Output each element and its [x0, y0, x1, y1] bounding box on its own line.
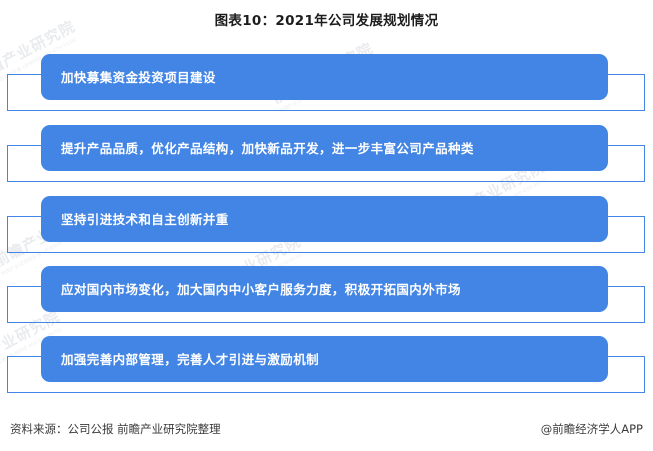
- plan-item-label: 加快募集资金投资项目建设: [41, 70, 228, 85]
- plan-item-3[interactable]: 坚持引进技术和自主创新并重: [41, 196, 608, 242]
- app-credit: @前瞻经济学人APP: [541, 421, 643, 437]
- plan-list: 加快募集资金投资项目建设 提升产品品质，优化产品结构，加快新品开发，进一步丰富公…: [0, 0, 653, 410]
- page-title: 图表10：2021年公司发展规划情况: [0, 9, 653, 29]
- plan-row: 提升产品品质，优化产品结构，加快新品开发，进一步丰富公司产品种类: [0, 125, 653, 191]
- footer: 资料来源：公司公报 前瞻产业研究院整理 @前瞻经济学人APP: [0, 421, 653, 439]
- plan-item-label: 提升产品品质，优化产品结构，加快新品开发，进一步丰富公司产品种类: [41, 141, 486, 156]
- plan-item-1[interactable]: 加快募集资金投资项目建设: [41, 54, 608, 100]
- plan-row: 应对国内市场变化，加大国内中小客户服务力度，积极开拓国内外市场: [0, 266, 653, 332]
- plan-item-5[interactable]: 加强完善内部管理，完善人才引进与激励机制: [41, 336, 608, 382]
- plan-item-2[interactable]: 提升产品品质，优化产品结构，加快新品开发，进一步丰富公司产品种类: [41, 125, 608, 171]
- source-text: 资料来源：公司公报 前瞻产业研究院整理: [10, 421, 221, 437]
- plan-item-label: 坚持引进技术和自主创新并重: [41, 212, 241, 227]
- plan-item-label: 应对国内市场变化，加大国内中小客户服务力度，积极开拓国内外市场: [41, 282, 473, 297]
- plan-item-label: 加强完善内部管理，完善人才引进与激励机制: [41, 352, 331, 367]
- plan-row: 加强完善内部管理，完善人才引进与激励机制: [0, 336, 653, 402]
- plan-row: 坚持引进技术和自主创新并重: [0, 196, 653, 262]
- plan-item-4[interactable]: 应对国内市场变化，加大国内中小客户服务力度，积极开拓国内外市场: [41, 266, 608, 312]
- plan-row: 加快募集资金投资项目建设: [0, 54, 653, 120]
